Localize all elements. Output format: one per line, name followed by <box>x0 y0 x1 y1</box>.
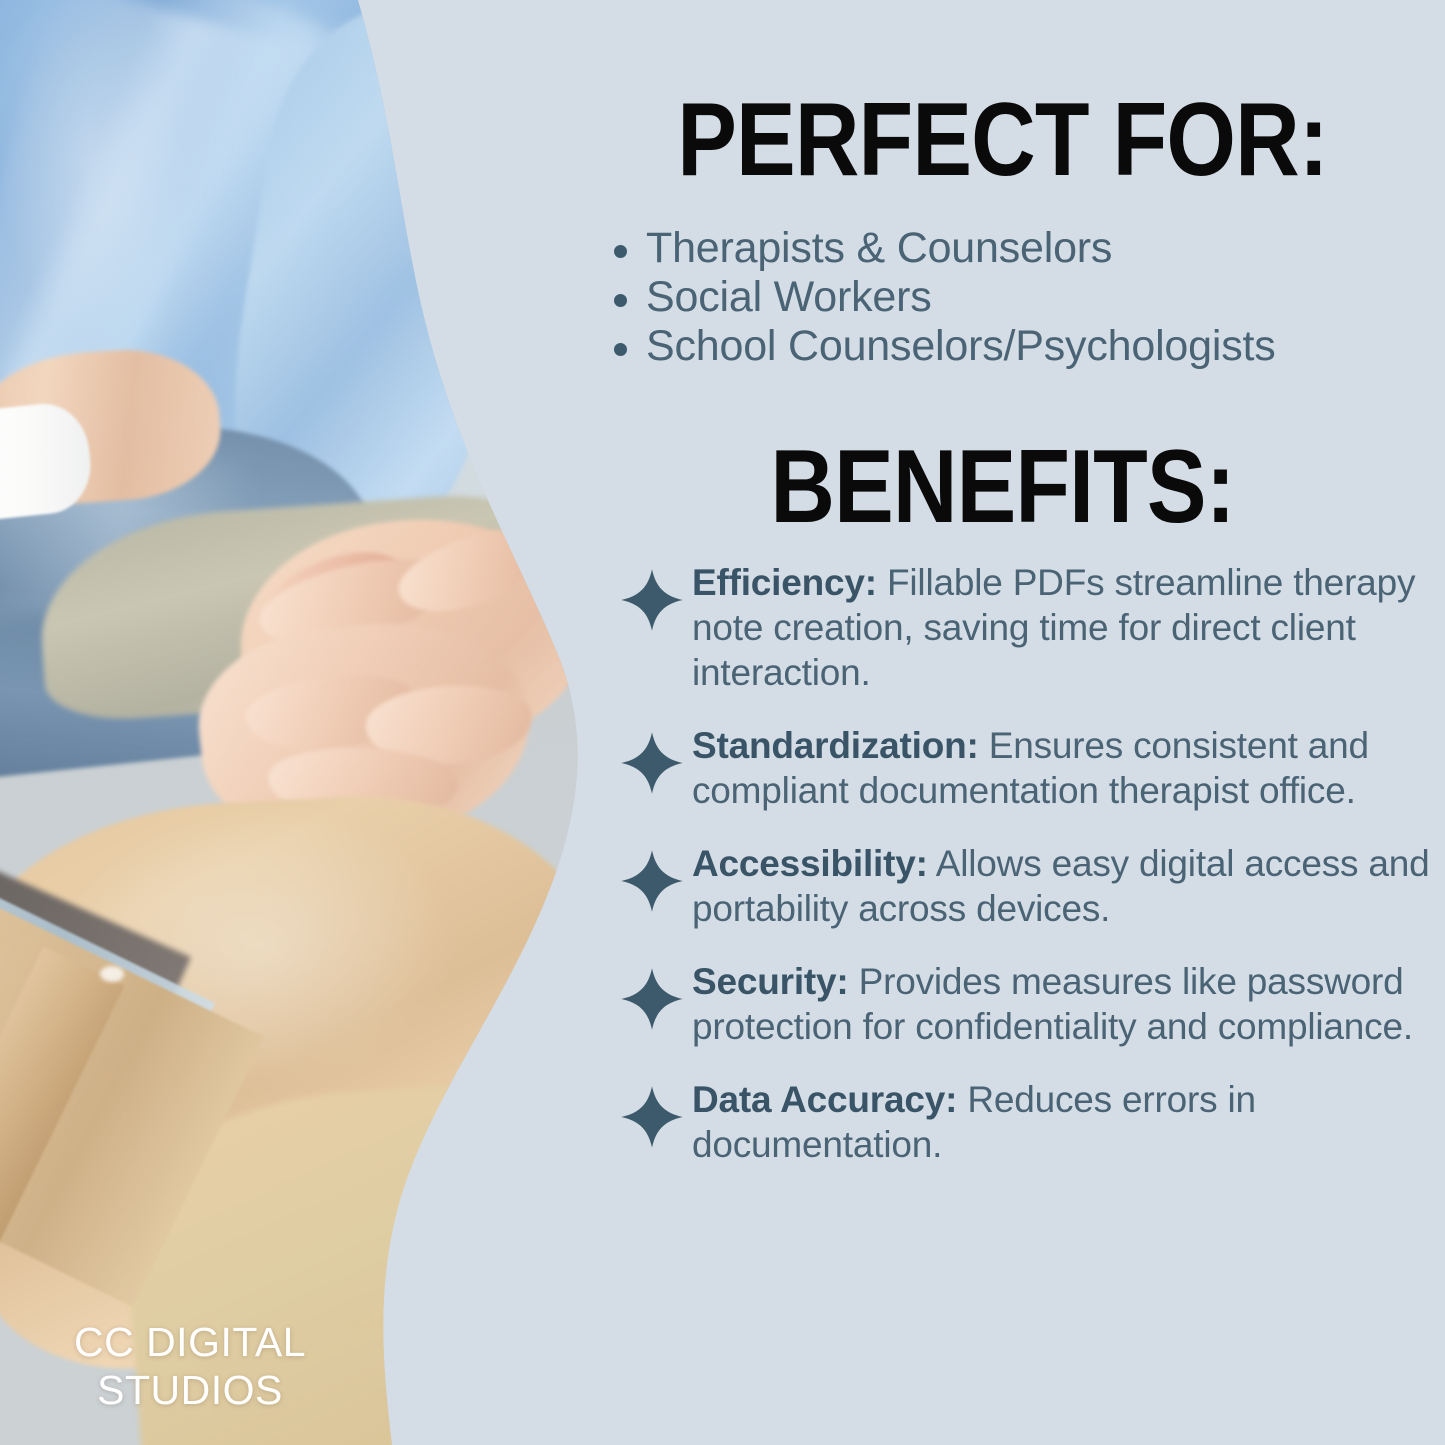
four-point-sparkle-icon <box>620 1085 684 1149</box>
benefit-text: Efficiency: Fillable PDFs streamline the… <box>692 562 1415 693</box>
watermark-line-1: CC DIGITAL <box>0 1318 380 1366</box>
four-point-sparkle-icon <box>620 731 684 795</box>
four-point-sparkle-icon <box>620 967 684 1031</box>
audience-item-label: School Counselors/Psychologists <box>646 322 1276 370</box>
list-item: Efficiency: Fillable PDFs streamline the… <box>586 560 1441 695</box>
benefits-list: Efficiency: Fillable PDFs streamline the… <box>586 560 1441 1195</box>
benefit-label: Data Accuracy: <box>692 1079 957 1120</box>
dot-bullet-icon <box>614 343 627 356</box>
audience-heading: PERFECT FOR: <box>622 88 1383 192</box>
benefit-label: Standardization: <box>692 725 979 766</box>
benefits-heading: BENEFITS: <box>622 435 1383 539</box>
watermark-line-2: STUDIOS <box>0 1366 380 1414</box>
list-item: Therapists & Counselors <box>598 224 1438 273</box>
marketing-graphic-canvas: CC DIGITAL STUDIOS PERFECT FOR: Therapis… <box>0 0 1445 1445</box>
list-item: Social Workers <box>598 273 1438 322</box>
dot-bullet-icon <box>614 245 627 258</box>
photo-soft-overlay <box>0 0 640 1445</box>
benefits-heading-wrap: BENEFITS: <box>560 435 1445 539</box>
audience-list: Therapists & Counselors Social Workers S… <box>598 224 1438 371</box>
photo-panel <box>0 0 640 1445</box>
benefit-text: Standardization: Ensures consistent and … <box>692 725 1369 811</box>
list-item: Accessibility: Allows easy digital acces… <box>586 841 1441 931</box>
audience-item-label: Therapists & Counselors <box>646 224 1112 272</box>
benefit-text: Data Accuracy: Reduces errors in documen… <box>692 1079 1256 1165</box>
list-item: Standardization: Ensures consistent and … <box>586 723 1441 813</box>
content-panel: PERFECT FOR: Therapists & Counselors Soc… <box>560 0 1445 1445</box>
benefit-text: Security: Provides measures like passwor… <box>692 961 1413 1047</box>
four-point-sparkle-icon <box>620 849 684 913</box>
benefit-label: Security: <box>692 961 849 1002</box>
therapy-session-photo <box>0 0 640 1445</box>
list-item: School Counselors/Psychologists <box>598 322 1438 371</box>
list-item: Data Accuracy: Reduces errors in documen… <box>586 1077 1441 1167</box>
benefit-label: Efficiency: <box>692 562 877 603</box>
list-item: Security: Provides measures like passwor… <box>586 959 1441 1049</box>
watermark: CC DIGITAL STUDIOS <box>0 1318 380 1415</box>
benefit-text: Accessibility: Allows easy digital acces… <box>692 843 1430 929</box>
audience-item-label: Social Workers <box>646 273 932 321</box>
benefit-label: Accessibility: <box>692 843 928 884</box>
audience-heading-wrap: PERFECT FOR: <box>560 88 1445 192</box>
four-point-sparkle-icon <box>620 568 684 632</box>
dot-bullet-icon <box>614 294 627 307</box>
